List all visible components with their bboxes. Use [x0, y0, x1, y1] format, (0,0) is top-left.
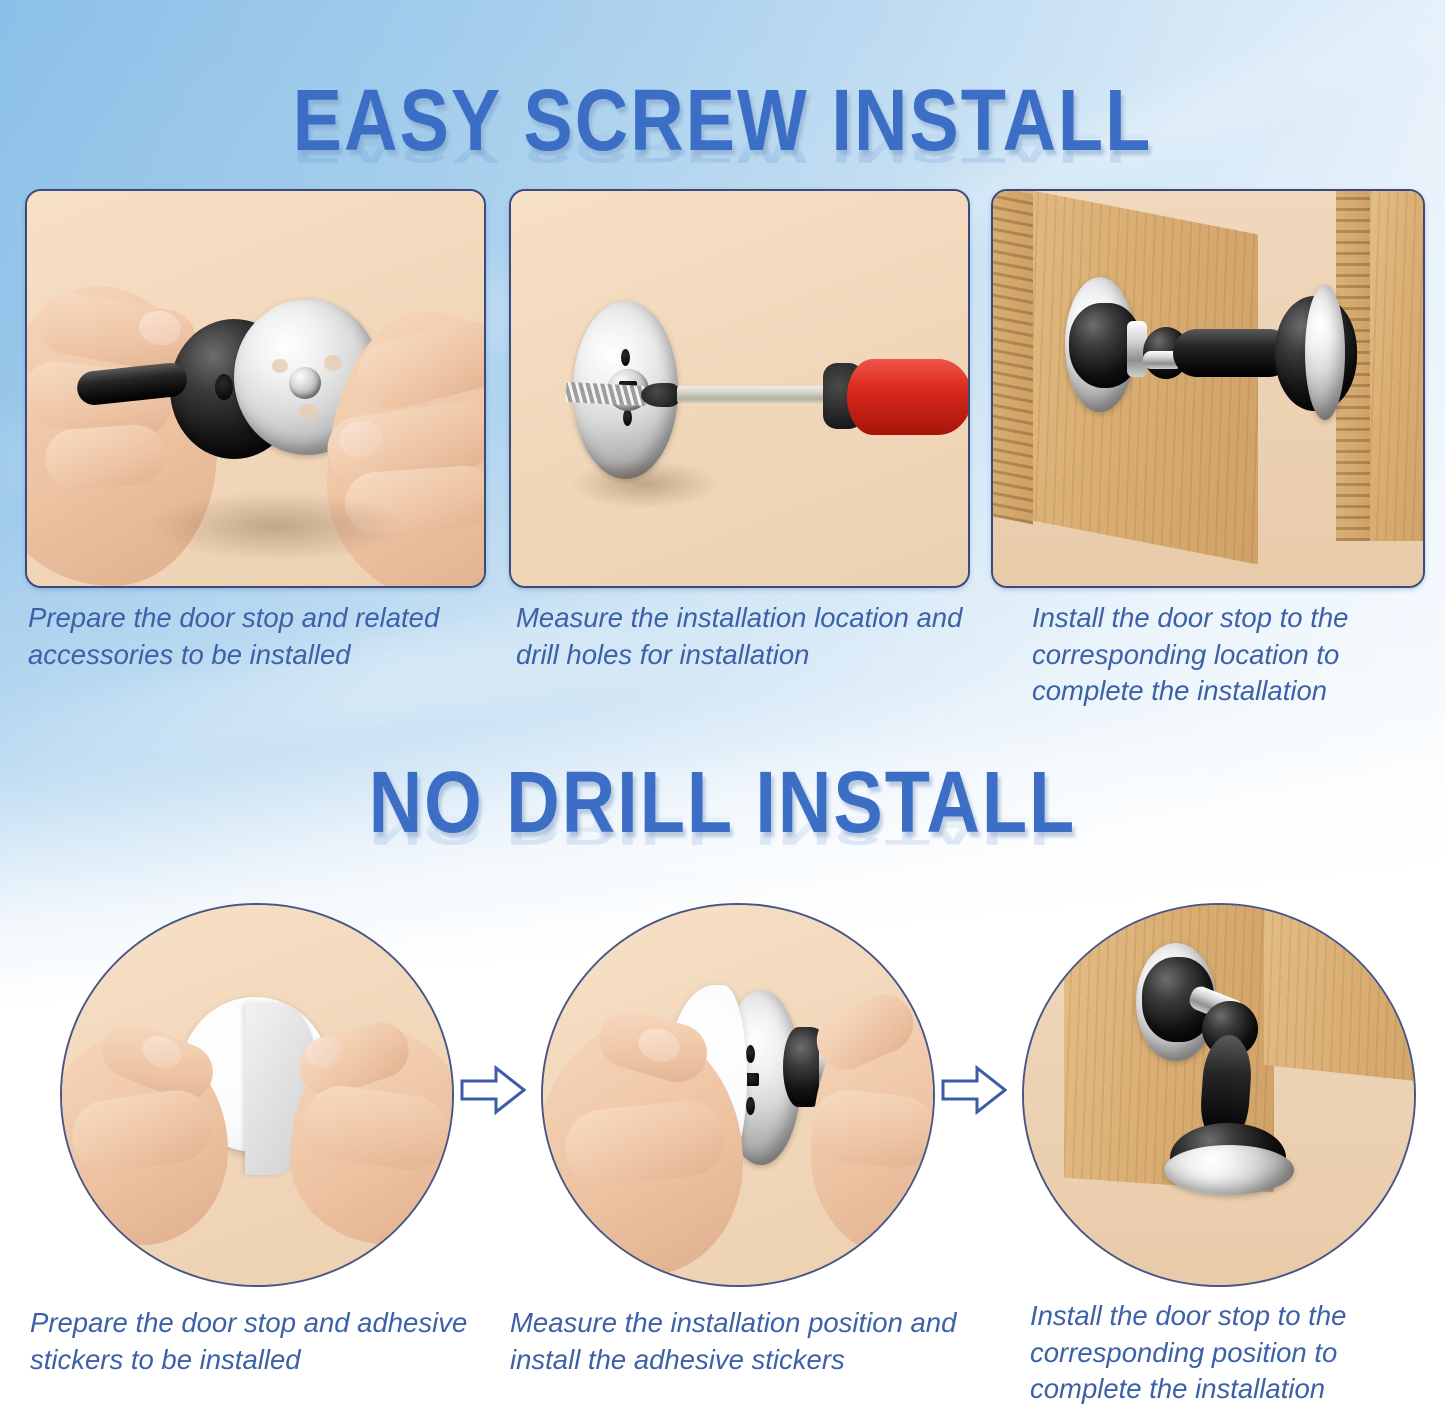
object-shadow — [147, 491, 407, 561]
nodrill-step-3-caption: Install the door stop to the correspondi… — [1030, 1298, 1440, 1406]
nodrill-step-2-image — [541, 903, 935, 1287]
step-arrow-2-icon — [941, 1063, 1007, 1117]
screw-step-2-image — [509, 189, 970, 588]
screw-step-1-image — [25, 189, 486, 588]
base-mounting-disc — [1164, 1145, 1294, 1195]
nodrill-step-3-image — [1022, 903, 1416, 1287]
nodrill-step-2-caption: Measure the installation position and in… — [510, 1305, 980, 1378]
disc-slot-center — [745, 1073, 759, 1086]
easy-screw-install-heading: EASY SCREW INSTALL — [0, 70, 1445, 170]
object-shadow — [569, 459, 719, 509]
screw-step-3-image — [991, 189, 1425, 588]
base-mounting-disc — [1305, 285, 1345, 420]
disc-center-screw — [289, 367, 321, 399]
wooden-wall-panel — [1264, 903, 1416, 1085]
disc-hole-top — [621, 349, 630, 366]
wooden-post-face — [1370, 189, 1425, 541]
screw-step-1-caption: Prepare the door stop and related access… — [28, 600, 498, 673]
disc-hole-bottom — [299, 404, 317, 419]
no-drill-install-heading: NO DRILL INSTALL — [0, 752, 1445, 852]
disc-hole-bottom — [623, 409, 632, 426]
door-edge-grooves — [991, 189, 1033, 524]
cap-screw-hole — [215, 374, 233, 400]
disc-hole-top — [746, 1045, 755, 1063]
screwdriver-tip — [641, 383, 681, 407]
screw-step-2-caption: Measure the installation location and dr… — [516, 600, 986, 673]
disc-hole-left — [272, 359, 288, 373]
disc-hole-bottom — [746, 1097, 755, 1115]
nodrill-step-1-caption: Prepare the door stop and adhesive stick… — [30, 1305, 490, 1378]
disc-hole-right — [324, 355, 342, 371]
step-arrow-1-icon — [460, 1063, 526, 1117]
left-thumb — [43, 423, 167, 491]
screwdriver-shaft — [677, 386, 832, 403]
screw-step-3-caption: Install the door stop to the correspondi… — [1032, 600, 1432, 710]
screwdriver-handle — [847, 359, 970, 435]
nodrill-step-1-image — [60, 903, 454, 1287]
wall-screw-thread — [566, 382, 647, 406]
installation-infographic: EASY SCREW INSTALL EASY SCREW INSTALL — [0, 0, 1445, 1406]
